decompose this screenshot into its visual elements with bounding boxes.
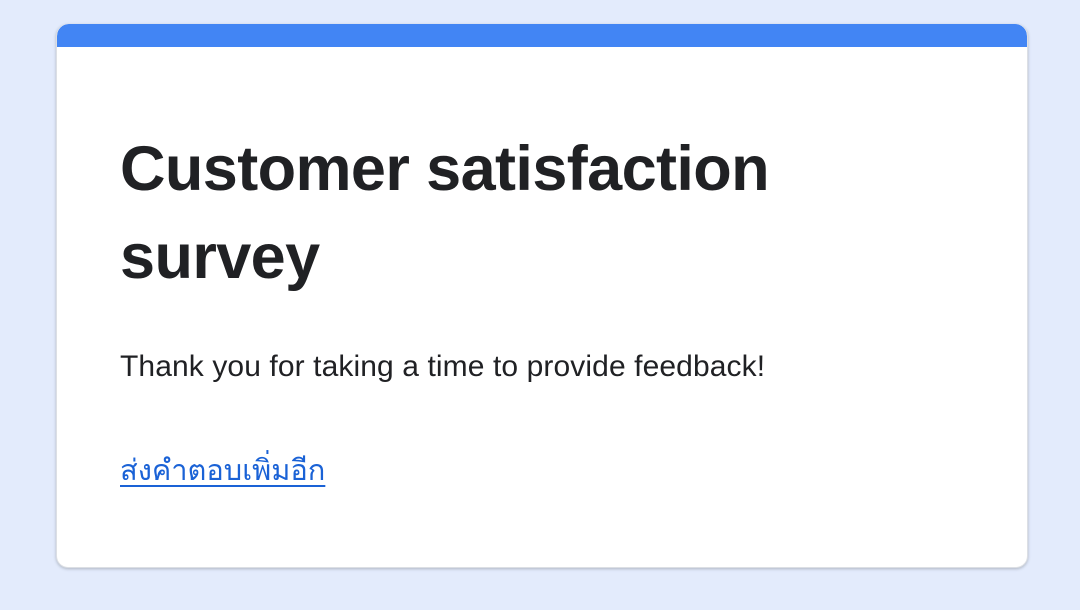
form-confirmation-card: Customer satisfaction survey Thank you f… — [56, 24, 1028, 568]
card-content: Customer satisfaction survey Thank you f… — [57, 47, 1027, 567]
card-accent-bar — [57, 24, 1027, 47]
submit-another-response-link[interactable]: ส่งคำตอบเพิ่มอีก — [120, 451, 325, 491]
page-title: Customer satisfaction survey — [120, 125, 950, 301]
confirmation-message: Thank you for taking a time to provide f… — [120, 301, 981, 387]
page-background: Customer satisfaction survey Thank you f… — [0, 0, 1080, 610]
